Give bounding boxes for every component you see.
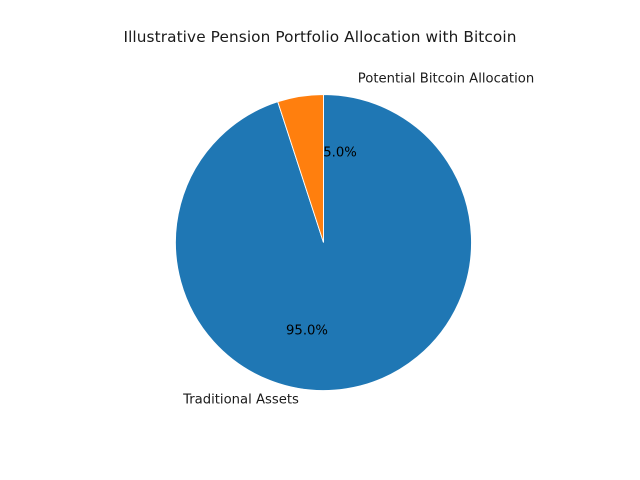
slice-percent-label-potential-bitcoin-allocation: 5.0% (323, 146, 357, 161)
pie-plot-area (175, 94, 472, 391)
pie-chart-figure: Illustrative Pension Portfolio Allocatio… (0, 0, 640, 480)
pie-svg (175, 94, 472, 391)
slice-category-label-potential-bitcoin-allocation: Potential Bitcoin Allocation (358, 72, 534, 87)
slice-percent-label-traditional-assets: 95.0% (286, 324, 328, 339)
slice-category-label-traditional-assets: Traditional Assets (183, 393, 299, 408)
chart-title: Illustrative Pension Portfolio Allocatio… (0, 28, 640, 46)
